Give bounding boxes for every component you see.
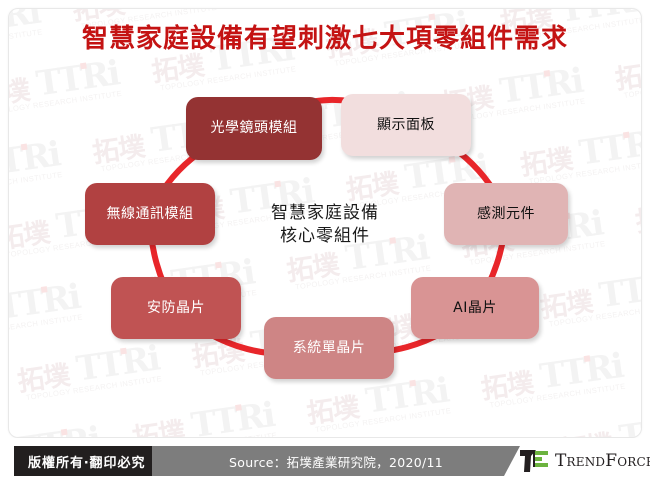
cycle-node-2[interactable]: 顯示面板: [341, 94, 471, 156]
watermark-cjk: 拓墣: [130, 410, 187, 438]
trendforce-logo-icon: [520, 450, 550, 472]
cycle-diagram: 智慧家庭設備 核心零組件 光學鏡頭模組顯示面板感測元件AI晶片系統單晶片安防晶片…: [0, 78, 650, 398]
copyright-badge: 版權所有‧翻印必究: [14, 446, 170, 476]
watermark-dot: [80, 62, 87, 69]
cycle-node-3[interactable]: 感測元件: [444, 183, 568, 245]
cycle-node-1[interactable]: 光學鏡頭模組: [186, 97, 322, 160]
cycle-node-label: 無線通訊模組: [107, 206, 194, 223]
watermark-dot: [61, 429, 68, 436]
watermark-dot: [544, 70, 551, 77]
footer: 版權所有‧翻印必究 Source：拓墣產業研究院，2020/11 TrendFo…: [0, 438, 650, 485]
cycle-node-label: 安防晶片: [147, 300, 205, 317]
page-title: 智慧家庭設備有望刺激七大項零組件需求: [0, 18, 650, 55]
center-label-line1: 智慧家庭設備: [225, 202, 425, 225]
cycle-node-label: 感測元件: [477, 206, 535, 223]
watermark-cjk: 拓墣: [558, 422, 615, 438]
center-label-line2: 核心零組件: [225, 225, 425, 248]
cycle-node-label: 系統單晶片: [293, 340, 366, 357]
slide-canvas: TTRi拓墣TOPOLOGY RESEARCH INSTITUTETTRi拓墣T…: [0, 0, 650, 485]
cycle-node-label: AI晶片: [453, 300, 497, 317]
cycle-node-label: 光學鏡頭模組: [211, 120, 298, 137]
diagram-center-label: 智慧家庭設備 核心零組件: [225, 202, 425, 248]
cycle-node-label: 顯示面板: [377, 117, 435, 134]
watermark-dot: [235, 404, 242, 411]
source-bar: Source：拓墣產業研究院，2020/11: [152, 446, 520, 476]
trendforce-logo-text: TrendForce: [555, 451, 650, 471]
cycle-node-7[interactable]: 無線通訊模組: [85, 183, 215, 245]
cycle-node-4[interactable]: AI晶片: [411, 277, 539, 339]
cycle-node-5[interactable]: 系統單晶片: [264, 317, 394, 379]
trendforce-logo: TrendForce: [520, 446, 650, 476]
cycle-node-6[interactable]: 安防晶片: [111, 277, 241, 339]
